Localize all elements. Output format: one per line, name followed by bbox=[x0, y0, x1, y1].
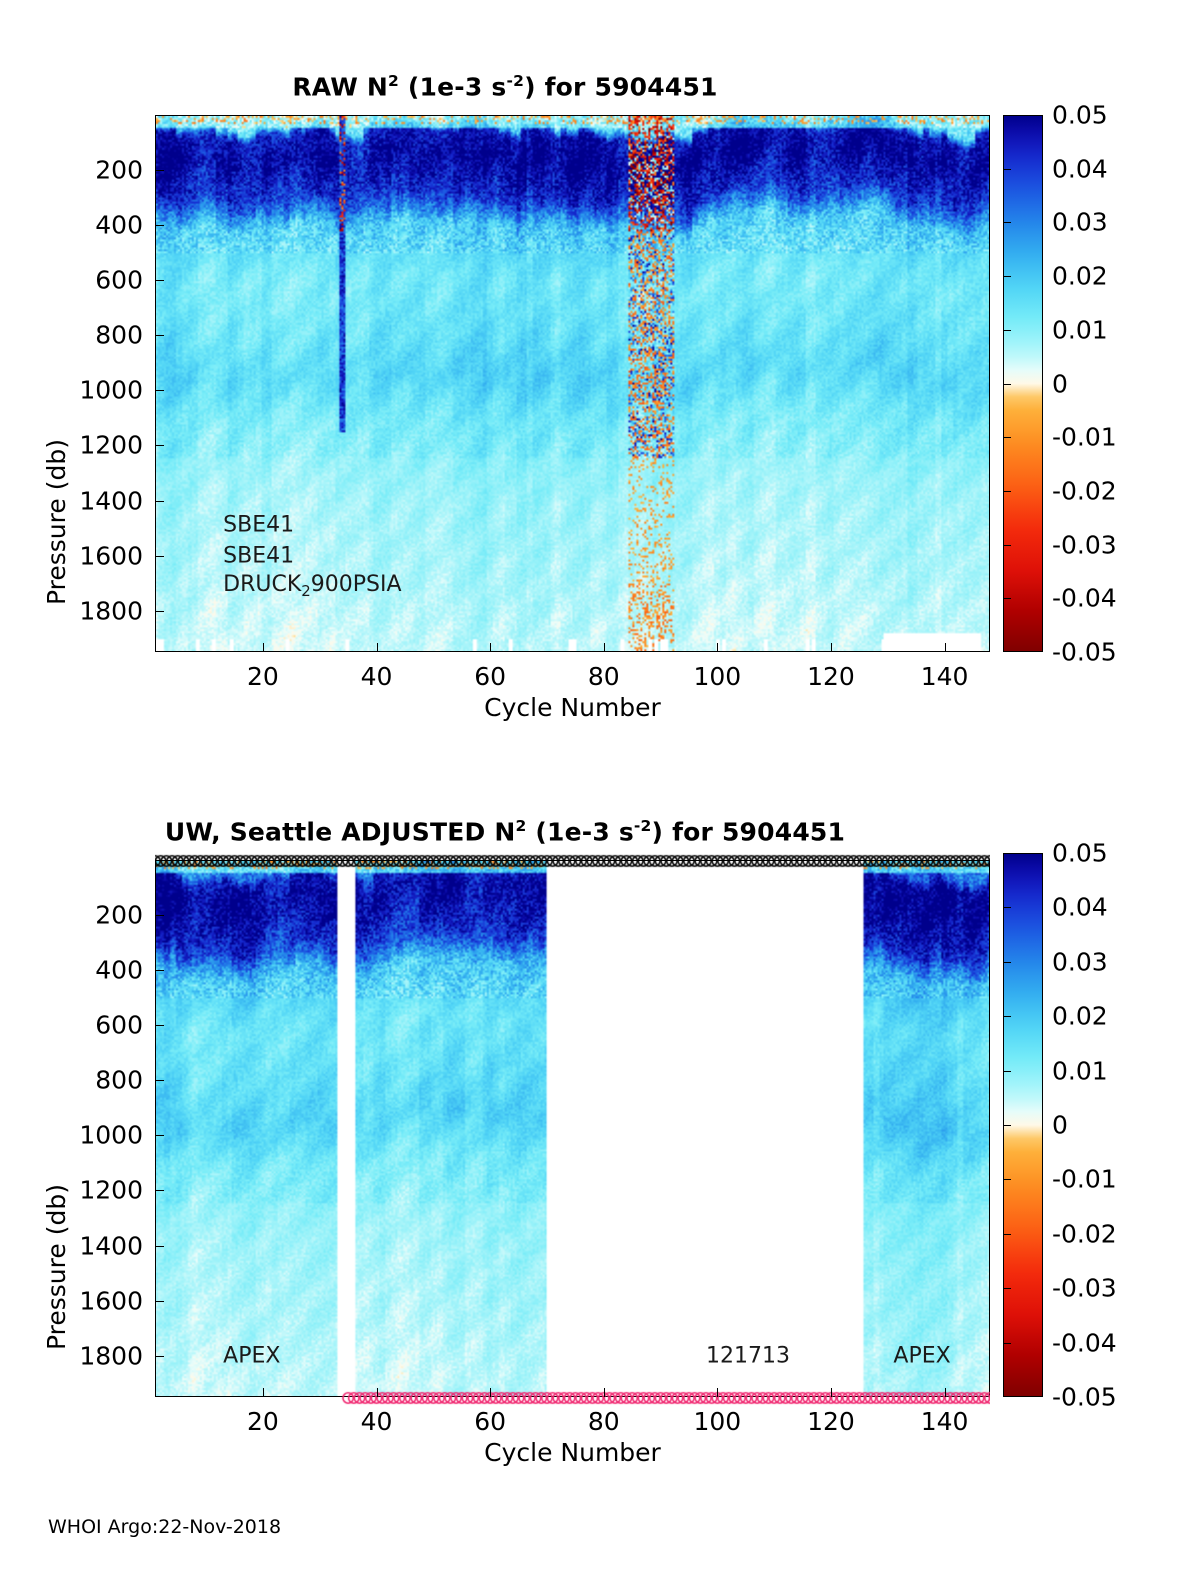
colorbar-tick-label: 0.03 bbox=[1052, 208, 1108, 237]
x-tick-mark bbox=[490, 643, 491, 652]
annotation-text: 121713 bbox=[706, 1343, 790, 1368]
colorbar-tick-label: 0.02 bbox=[1052, 1002, 1108, 1031]
colorbar-tick-mark bbox=[1003, 1343, 1011, 1344]
x-tick-label: 60 bbox=[474, 1407, 506, 1436]
panel-adjusted: UW, Seattle ADJUSTED N2 (1e-3 s-2) for 5… bbox=[0, 805, 1200, 1495]
annotation-text: DRUCK bbox=[223, 572, 301, 597]
colorbar-tick-label: -0.05 bbox=[1052, 638, 1117, 667]
x-tick-label: 40 bbox=[361, 1407, 393, 1436]
x-tick-label: 20 bbox=[247, 662, 279, 691]
colorbar-tick-label: 0.01 bbox=[1052, 1056, 1108, 1085]
colorbar-tick-mark bbox=[1003, 1179, 1011, 1180]
colorbar-tick-mark bbox=[1003, 545, 1011, 546]
y-tick-label: 1400 bbox=[79, 1231, 143, 1260]
y-tick-label: 800 bbox=[95, 321, 143, 350]
x-tick-label: 120 bbox=[807, 662, 855, 691]
x-tick-mark bbox=[831, 1388, 832, 1397]
colorbar-tick-label: -0.03 bbox=[1052, 530, 1117, 559]
x-tick-label: 80 bbox=[588, 662, 620, 691]
colorbar-tick-mark bbox=[1003, 491, 1011, 492]
adjusted-bottom-marker-row bbox=[155, 1390, 990, 1406]
annotation-subscript: 2 bbox=[301, 582, 311, 600]
colorbar-tick-label: -0.04 bbox=[1052, 1328, 1117, 1357]
colorbar-tick-label: 0.01 bbox=[1052, 315, 1108, 344]
x-tick-mark bbox=[377, 643, 378, 652]
y-tick-mark bbox=[155, 970, 164, 971]
y-tick-label: 1800 bbox=[79, 596, 143, 625]
y-tick-mark bbox=[155, 225, 164, 226]
annotation-text: SBE41 bbox=[223, 543, 294, 568]
x-tick-mark bbox=[604, 643, 605, 652]
x-tick-mark bbox=[717, 1388, 718, 1397]
plot-annotation: SBE41 bbox=[223, 513, 294, 538]
y-tick-mark bbox=[155, 1135, 164, 1136]
y-tick-mark bbox=[155, 1301, 164, 1302]
y-tick-mark bbox=[155, 556, 164, 557]
x-tick-label: 20 bbox=[247, 1407, 279, 1436]
y-tick-label: 800 bbox=[95, 1066, 143, 1095]
y-tick-mark bbox=[155, 1080, 164, 1081]
colorbar-tick-mark bbox=[1003, 1234, 1011, 1235]
y-tick-mark bbox=[155, 1025, 164, 1026]
plot-annotation: APEX bbox=[223, 1343, 280, 1368]
colorbar-tick-label: -0.01 bbox=[1052, 423, 1117, 452]
plot-annotation: 121713 bbox=[706, 1343, 790, 1368]
x-tick-mark bbox=[945, 1388, 946, 1397]
panel-raw-title: RAW N2 (1e-3 s-2) for 5904451 bbox=[0, 72, 1010, 101]
colorbar-tick-mark bbox=[1003, 437, 1011, 438]
x-tick-mark bbox=[831, 643, 832, 652]
colorbar-tick-mark bbox=[1003, 330, 1011, 331]
y-tick-label: 1800 bbox=[79, 1341, 143, 1370]
y-tick-label: 200 bbox=[95, 156, 143, 185]
panel-raw: RAW N2 (1e-3 s-2) for 5904451 2004006008… bbox=[0, 60, 1200, 740]
colorbar-tick-mark bbox=[1003, 598, 1011, 599]
y-tick-mark bbox=[155, 1356, 164, 1357]
y-tick-mark bbox=[155, 611, 164, 612]
adjusted-top-marker-row bbox=[155, 853, 990, 869]
adjusted-x-axis-label: Cycle Number bbox=[155, 1438, 990, 1467]
colorbar-tick-mark bbox=[1003, 962, 1011, 963]
y-tick-mark bbox=[155, 170, 164, 171]
x-tick-mark bbox=[490, 1388, 491, 1397]
colorbar-tick-label: -0.05 bbox=[1052, 1383, 1117, 1412]
colorbar-tick-mark bbox=[1003, 384, 1011, 385]
y-tick-label: 600 bbox=[95, 1011, 143, 1040]
colorbar-tick-mark bbox=[1003, 907, 1011, 908]
annotation-text: APEX bbox=[893, 1343, 950, 1368]
y-tick-label: 200 bbox=[95, 901, 143, 930]
annotation-text: APEX bbox=[223, 1343, 280, 1368]
y-tick-label: 1000 bbox=[79, 376, 143, 405]
y-tick-label: 1200 bbox=[79, 431, 143, 460]
x-tick-label: 140 bbox=[921, 662, 969, 691]
adjusted-heatmap-canvas bbox=[156, 861, 989, 1396]
colorbar-tick-label: 0.02 bbox=[1052, 262, 1108, 291]
x-tick-mark bbox=[263, 643, 264, 652]
figure-footer: WHOI Argo:22-Nov-2018 bbox=[48, 1516, 281, 1538]
x-tick-mark bbox=[945, 643, 946, 652]
colorbar-tick-label: -0.02 bbox=[1052, 476, 1117, 505]
y-tick-label: 1600 bbox=[79, 1286, 143, 1315]
colorbar-tick-label: 0.05 bbox=[1052, 101, 1108, 130]
colorbar-tick-mark bbox=[1003, 169, 1011, 170]
x-tick-mark bbox=[263, 1388, 264, 1397]
raw-y-axis-label: Pressure (db) bbox=[42, 439, 71, 605]
y-tick-label: 1200 bbox=[79, 1176, 143, 1205]
y-tick-mark bbox=[155, 445, 164, 446]
plot-annotation: SBE41 bbox=[223, 543, 294, 568]
colorbar-tick-label: 0.04 bbox=[1052, 154, 1108, 183]
x-tick-mark bbox=[604, 1388, 605, 1397]
colorbar-tick-label: -0.02 bbox=[1052, 1219, 1117, 1248]
panel-adjusted-title: UW, Seattle ADJUSTED N2 (1e-3 s-2) for 5… bbox=[0, 817, 1010, 846]
annotation-rest: 900PSIA bbox=[311, 572, 402, 597]
colorbar-tick-mark bbox=[1003, 222, 1011, 223]
annotation-text: SBE41 bbox=[223, 513, 294, 538]
x-tick-label: 100 bbox=[693, 662, 741, 691]
x-tick-mark bbox=[377, 1388, 378, 1397]
y-tick-label: 600 bbox=[95, 266, 143, 295]
colorbar-tick-label: -0.03 bbox=[1052, 1274, 1117, 1303]
colorbar-tick-mark bbox=[1003, 276, 1011, 277]
y-tick-label: 400 bbox=[95, 211, 143, 240]
adjusted-y-axis-label: Pressure (db) bbox=[42, 1184, 71, 1350]
plot-annotation: DRUCK2900PSIA bbox=[223, 572, 401, 600]
x-tick-label: 40 bbox=[361, 662, 393, 691]
x-tick-label: 80 bbox=[588, 1407, 620, 1436]
x-tick-mark bbox=[717, 643, 718, 652]
y-tick-label: 1400 bbox=[79, 486, 143, 515]
y-tick-mark bbox=[155, 1190, 164, 1191]
colorbar-tick-label: 0 bbox=[1052, 1111, 1068, 1140]
plot-annotation: APEX bbox=[893, 1343, 950, 1368]
y-tick-label: 1000 bbox=[79, 1121, 143, 1150]
colorbar-tick-mark bbox=[1003, 1288, 1011, 1289]
x-tick-label: 120 bbox=[807, 1407, 855, 1436]
colorbar-tick-label: -0.04 bbox=[1052, 584, 1117, 613]
colorbar-tick-mark bbox=[1003, 1071, 1011, 1072]
y-tick-mark bbox=[155, 501, 164, 502]
x-tick-label: 100 bbox=[693, 1407, 741, 1436]
colorbar-tick-label: 0 bbox=[1052, 369, 1068, 398]
colorbar-tick-label: 0.04 bbox=[1052, 893, 1108, 922]
x-tick-label: 60 bbox=[474, 662, 506, 691]
argo-n2-figure: RAW N2 (1e-3 s-2) for 5904451 2004006008… bbox=[0, 0, 1200, 1575]
y-tick-mark bbox=[155, 280, 164, 281]
colorbar-tick-label: -0.01 bbox=[1052, 1165, 1117, 1194]
y-tick-label: 1600 bbox=[79, 541, 143, 570]
adjusted-heatmap-plot[interactable] bbox=[155, 860, 990, 1397]
colorbar-tick-mark bbox=[1003, 1016, 1011, 1017]
raw-x-axis-label: Cycle Number bbox=[155, 693, 990, 722]
y-tick-mark bbox=[155, 915, 164, 916]
colorbar-tick-label: 0.05 bbox=[1052, 839, 1108, 868]
y-tick-mark bbox=[155, 390, 164, 391]
colorbar-tick-label: 0.03 bbox=[1052, 947, 1108, 976]
y-tick-mark bbox=[155, 335, 164, 336]
x-tick-label: 140 bbox=[921, 1407, 969, 1436]
y-tick-mark bbox=[155, 1246, 164, 1247]
colorbar-tick-mark bbox=[1003, 1125, 1011, 1126]
y-tick-label: 400 bbox=[95, 956, 143, 985]
